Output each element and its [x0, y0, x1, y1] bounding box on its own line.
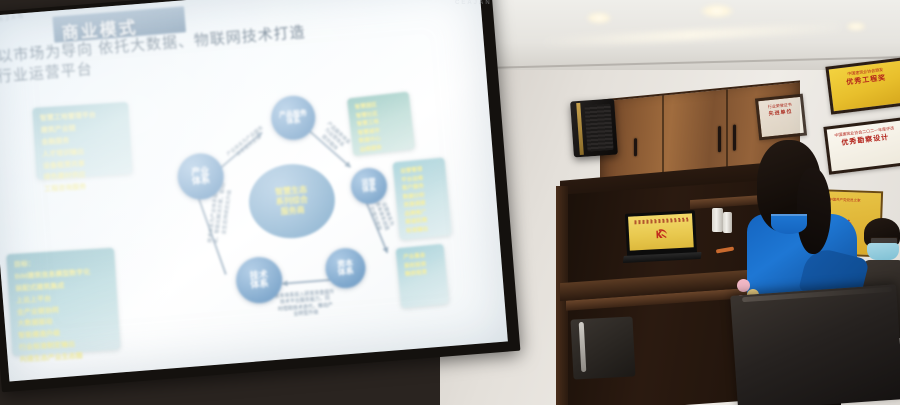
card-left-bottom: 目标： BIM建筑信息模型数字化 装配式建筑集成 上云上平台 全产业链协同 大数… [6, 248, 120, 357]
watermark-logo-right: CEAJAN [455, 0, 492, 6]
node-label: 体系 [362, 185, 377, 193]
laptop-display [628, 213, 694, 250]
speaker-trim [576, 103, 584, 155]
ceiling-downlight [586, 12, 612, 24]
node-label: 体系 [338, 268, 355, 278]
paper-cup [712, 208, 723, 232]
presentation-slide: 商业模式 以市场为导向 依托大数据、物联网技术打造 行业运营平台 智慧工地管理平… [0, 0, 508, 381]
edge-label-industry-to-product: 产业体系为产品服务 体系提供支撑 [218, 119, 276, 169]
laptop-screen-caption [634, 218, 688, 225]
plaque-gold-top: 中国建筑业协会颁发 优秀工程奖 [825, 57, 900, 114]
podium-surface [730, 284, 900, 405]
projection-screen: 商业模式 以市场为导向 依托大数据、物联网技术打造 行业运营平台 智慧工地管理平… [0, 0, 508, 381]
screenshot-root: 中国建筑业协会颁发 优秀工程奖 中国建筑业协会二〇二一年度评选 优秀勘察设计 行… [0, 0, 900, 405]
card-left-top: 智慧工地管理平台 建筑产业链 金融服务 人才培训输出 设备租赁共享 绿色建材供应… [32, 102, 132, 180]
cabinet-handle[interactable] [733, 125, 736, 151]
node-label: 体系 [286, 117, 301, 125]
node-product-service[interactable]: 产品服务 体系 [270, 94, 317, 141]
cabinet-handle[interactable] [634, 138, 637, 156]
ceiling-downlight [846, 22, 866, 31]
paper-cup [723, 212, 732, 233]
center-line: 服务商 [280, 205, 305, 217]
presenter-hair-side [797, 168, 831, 254]
node-capital[interactable]: 资本 体系 [324, 247, 367, 290]
pentagon-diagram: 产业体系为产品服务 体系提供支撑 产品服务体系 为运营体系 提供载体 运营体系为… [166, 88, 414, 336]
laptop[interactable] [625, 210, 697, 258]
node-label: 体系 [192, 176, 211, 187]
diagram-center-node: 智慧生态 系列综合 服务商 [246, 161, 338, 242]
speaker-grille [584, 104, 613, 152]
party-emblem-icon [653, 227, 670, 241]
watermark-logo: CEAJAN [0, 13, 26, 26]
plaque-white-low: 行业荣誉证书 先进单位 [755, 94, 807, 141]
cabinet-handle[interactable] [718, 126, 721, 152]
node-label: 体系 [250, 279, 269, 290]
wall-speaker [570, 99, 618, 158]
ceiling-downlight [700, 4, 734, 18]
presenter-collar [771, 214, 807, 234]
laptop-screen [625, 210, 697, 258]
